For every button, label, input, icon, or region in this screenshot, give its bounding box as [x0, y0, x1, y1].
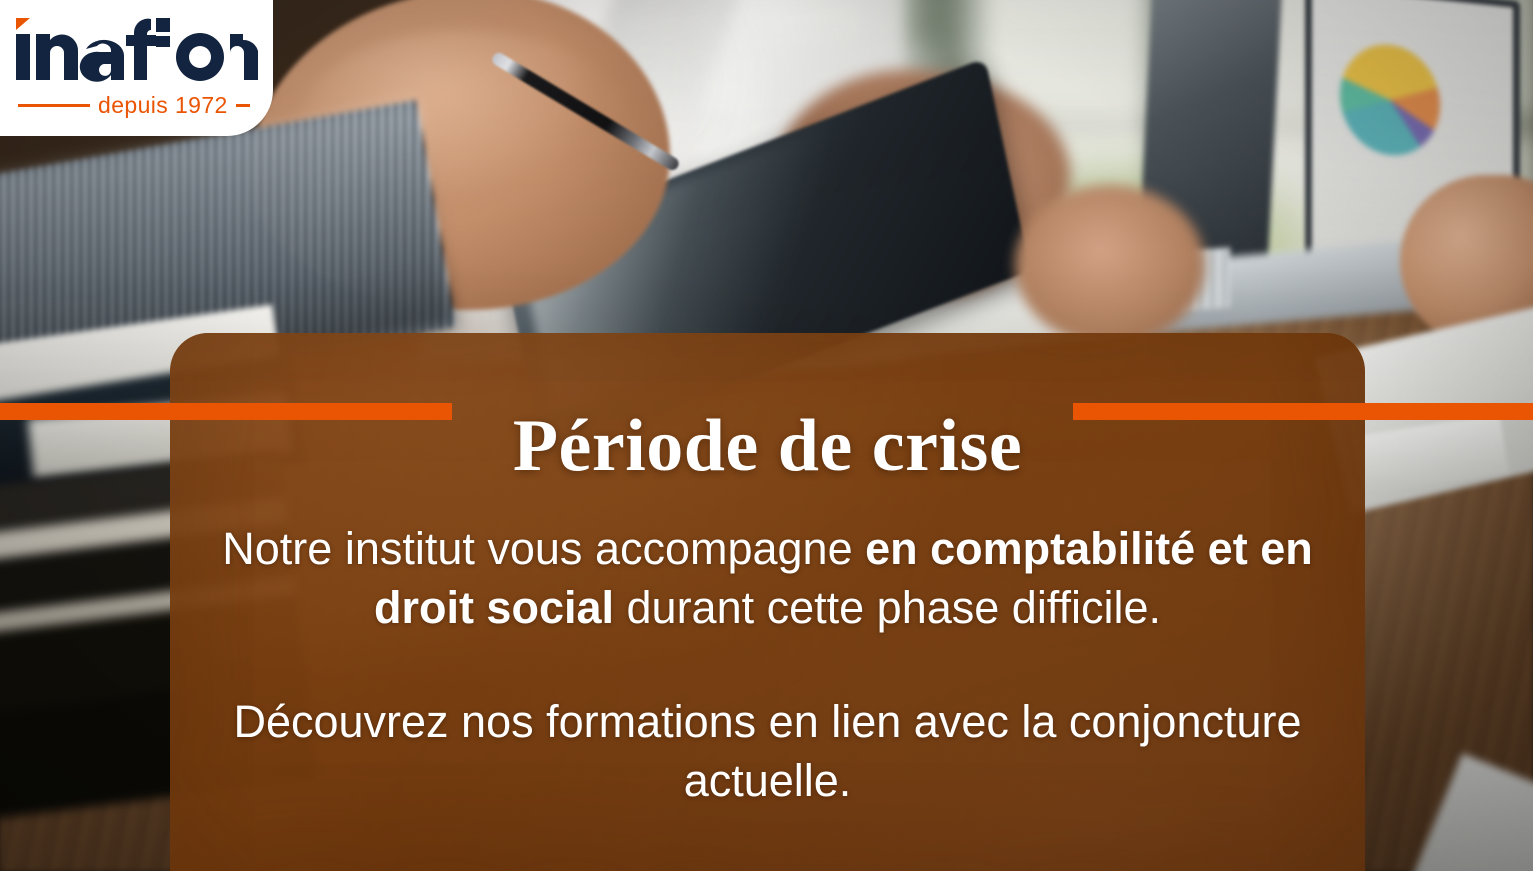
- marketing-banner: Période de crise Notre institut vous acc…: [0, 0, 1533, 871]
- logo-rule-left: [18, 104, 90, 107]
- logo-wordmark: [14, 16, 258, 84]
- paragraph-one-tail: durant cette phase difficile.: [614, 582, 1161, 633]
- paragraph-two: Découvrez nos formations en lien avec la…: [175, 693, 1360, 810]
- paragraph-one: Notre institut vous accompagne en compta…: [175, 520, 1360, 637]
- logo-rule-right: [236, 104, 250, 107]
- banner-copy: Notre institut vous accompagne en compta…: [175, 520, 1360, 810]
- brand-logo[interactable]: depuis 1972: [0, 0, 273, 136]
- logo-tagline-row: depuis 1972: [18, 90, 258, 120]
- page-title: Période de crise: [170, 409, 1365, 483]
- logo-tagline: depuis 1972: [98, 92, 228, 119]
- paragraph-one-lead: Notre institut vous accompagne: [222, 523, 865, 574]
